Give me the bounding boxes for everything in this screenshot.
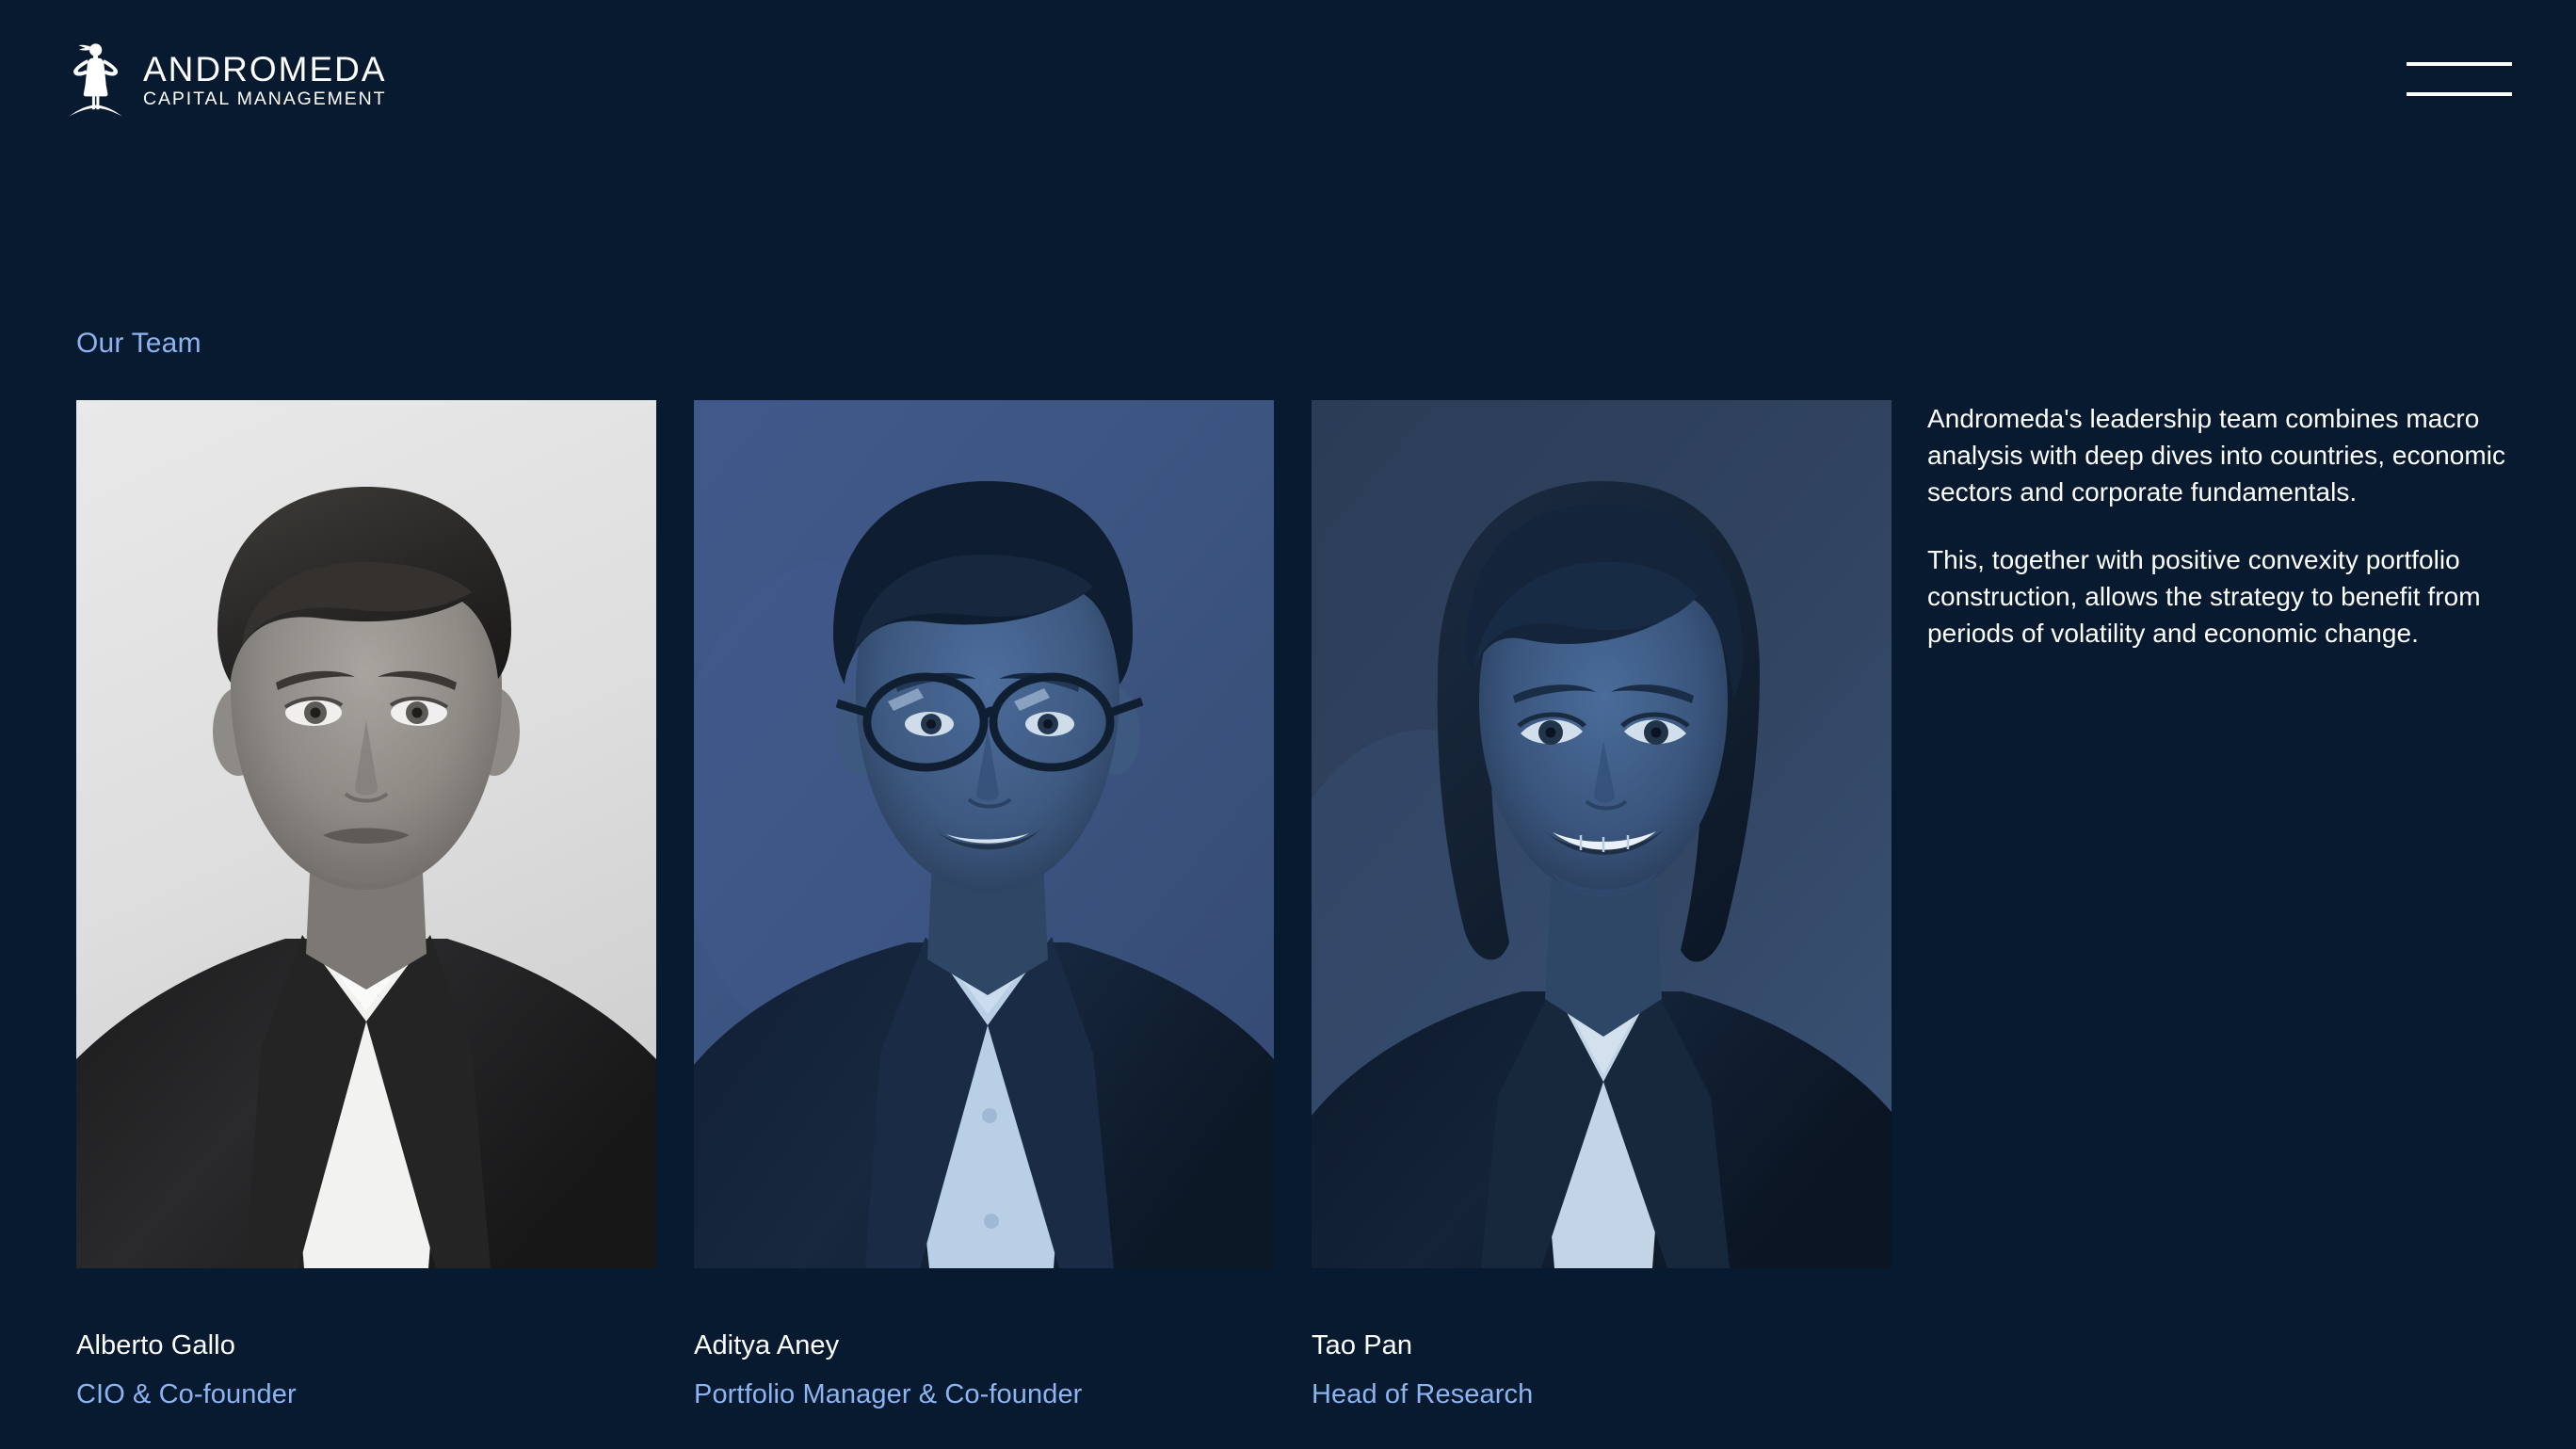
team-intro-copy: Andromeda's leadership team combines mac… <box>1927 400 2511 652</box>
team-member-card[interactable]: Alberto Gallo CIO & Co-founder <box>76 400 656 1409</box>
brand-text: ANDROMEDA CAPITAL MANAGEMENT <box>143 50 387 109</box>
brand-subtitle: CAPITAL MANAGEMENT <box>143 90 387 109</box>
hamburger-bar-top <box>2407 62 2512 66</box>
team-member-card[interactable]: Tao Pan Head of Research <box>1312 400 1892 1409</box>
portrait-alberto-gallo <box>76 400 656 1268</box>
brand-name: ANDROMEDA <box>143 52 387 87</box>
site-header: ANDROMEDA CAPITAL MANAGEMENT <box>0 0 2576 158</box>
team-member-name: Alberto Gallo <box>76 1332 656 1360</box>
andromeda-figure-logo-icon <box>68 40 122 118</box>
our-team-section: Our Team <box>0 158 2576 1449</box>
team-member-role: CIO & Co-founder <box>76 1381 656 1409</box>
team-member-role: Portfolio Manager & Co-founder <box>694 1381 1274 1409</box>
section-eyebrow-our-team: Our Team <box>76 330 201 358</box>
team-member-name: Tao Pan <box>1312 1332 1892 1360</box>
team-intro-paragraph-2: This, together with positive convexity p… <box>1927 541 2511 652</box>
team-member-role: Head of Research <box>1312 1381 1892 1409</box>
portrait-aditya-aney <box>694 400 1274 1268</box>
team-intro-paragraph-1: Andromeda's leadership team combines mac… <box>1927 400 2511 510</box>
team-member-name: Aditya Aney <box>694 1332 1274 1360</box>
hamburger-menu-icon[interactable] <box>2407 52 2512 106</box>
team-member-card[interactable]: Aditya Aney Portfolio Manager & Co-found… <box>694 400 1274 1409</box>
brand-logo-link[interactable]: ANDROMEDA CAPITAL MANAGEMENT <box>68 40 387 118</box>
portrait-tao-pan <box>1312 400 1892 1268</box>
page-root: ANDROMEDA CAPITAL MANAGEMENT Our Team <box>0 0 2576 1449</box>
hamburger-bar-bottom <box>2407 92 2512 96</box>
